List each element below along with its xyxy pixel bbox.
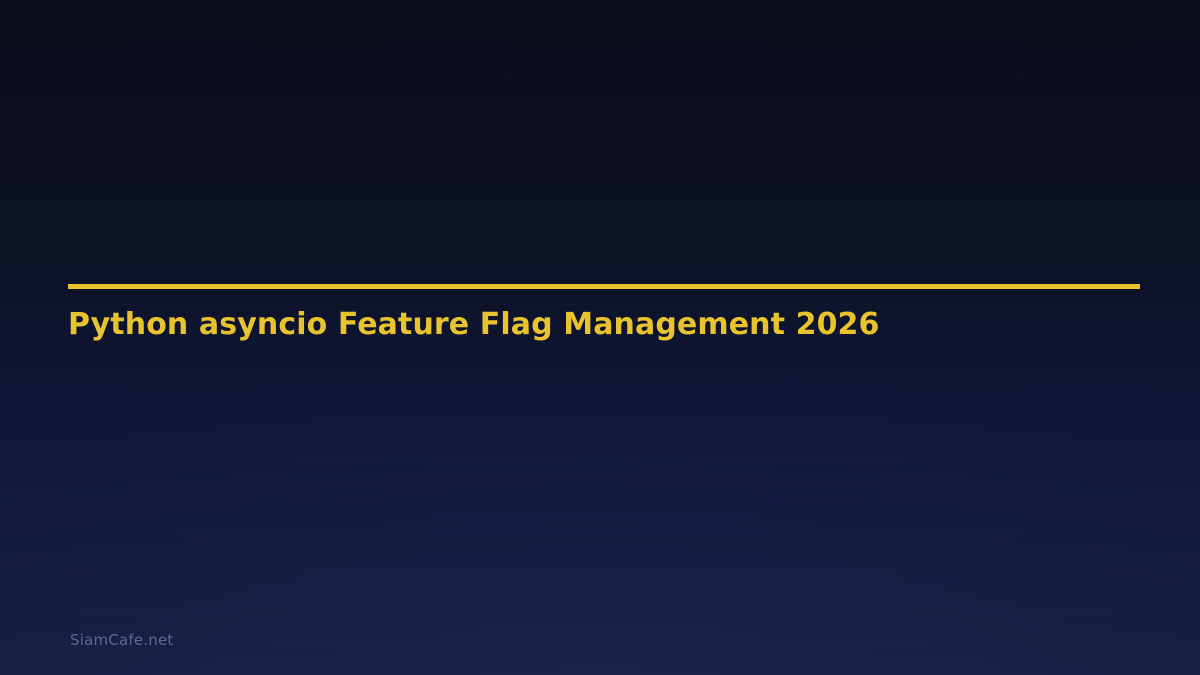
title-block: Python asyncio Feature Flag Management 2… xyxy=(68,284,1140,343)
slide-canvas: Python asyncio Feature Flag Management 2… xyxy=(0,0,1200,675)
footer-branding: SiamCafe.net xyxy=(70,630,173,650)
accent-bar xyxy=(68,284,1140,289)
slide-title: Python asyncio Feature Flag Management 2… xyxy=(68,307,1140,343)
